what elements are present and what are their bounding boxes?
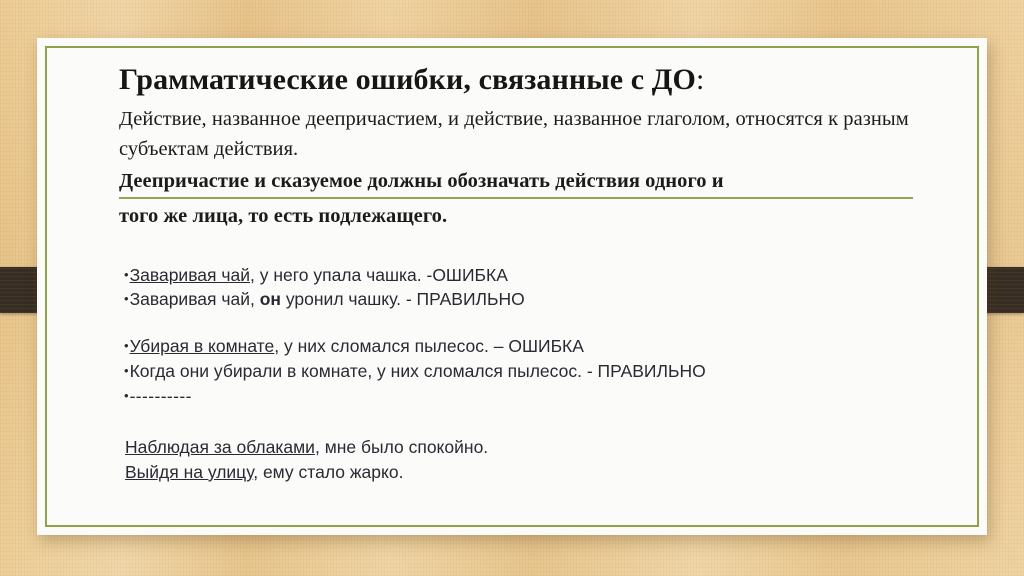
spacer-two [119, 312, 945, 334]
list-item: Когда они убирали в комнате, у них слома… [124, 359, 945, 384]
intro-line-1: Действие, названное деепричастием, и дей… [119, 108, 730, 130]
rule-paragraph: Деепричастие и сказуемое должны обознача… [119, 164, 945, 231]
list-item: Заваривая чай, он уронил чашку. - ПРАВИЛ… [124, 287, 945, 312]
slide-card: Грамматические ошибки, связанные с ДО: Д… [37, 38, 987, 535]
list-item: Наблюдая за облаками, мне было спокойно. [125, 435, 945, 460]
dashed-separator: ---------- [130, 386, 192, 406]
example-underlined-phrase: Убирая в комнате [130, 336, 275, 356]
example-underlined-phrase: Выйдя на улицу [125, 462, 253, 482]
slide-card-frame: Грамматические ошибки, связанные с ДО: Д… [45, 46, 979, 527]
list-item: Заваривая чай, у него упала чашка. -ОШИБ… [124, 263, 945, 288]
slide-title-colon: : [696, 63, 704, 96]
slide-title: Грамматические ошибки, связанные с ДО: [119, 53, 945, 97]
slide-content: Грамматические ошибки, связанные с ДО: Д… [119, 53, 945, 525]
example-rest: , ему стало жарко. [253, 462, 403, 482]
spacer-three [119, 409, 945, 435]
example-prefix: Заваривая чай, [130, 289, 260, 309]
rule-line-2: того же лица, то есть подлежащего. [119, 199, 945, 231]
list-item: Убирая в комнате, у них сломался пылесос… [124, 334, 945, 359]
example-plain: Когда они убирали в комнате, у них слома… [130, 361, 706, 381]
example-bold-word: он [260, 289, 281, 309]
example-group-one: Заваривая чай, у него упала чашка. -ОШИБ… [119, 263, 945, 313]
rule-line-1: Деепричастие и сказуемое должны обознача… [119, 166, 913, 199]
example-group-two: Убирая в комнате, у них сломался пылесос… [119, 334, 945, 409]
example-rest: , мне было спокойно. [315, 437, 488, 457]
spacer-one [119, 232, 945, 263]
example-rest: , у него упала чашка. -ОШИБКА [250, 265, 508, 285]
list-item: Выйдя на улицу, ему стало жарко. [125, 460, 945, 485]
example-rest: уронил чашку. - ПРАВИЛЬНО [281, 289, 525, 309]
list-item-separator: ---------- [124, 384, 945, 409]
intro-paragraph: Действие, названное деепричастием, и дей… [119, 97, 945, 164]
example-underlined-phrase: Наблюдая за облаками [125, 437, 315, 457]
example-group-three: Наблюдая за облаками, мне было спокойно.… [119, 435, 945, 485]
slide-title-text: Грамматические ошибки, связанные с ДО [119, 63, 696, 96]
example-underlined-phrase: Заваривая чай [130, 265, 250, 285]
slide-stage: Грамматические ошибки, связанные с ДО: Д… [0, 0, 1024, 576]
example-rest: , у них сломался пылесос. – ОШИБКА [274, 336, 584, 356]
